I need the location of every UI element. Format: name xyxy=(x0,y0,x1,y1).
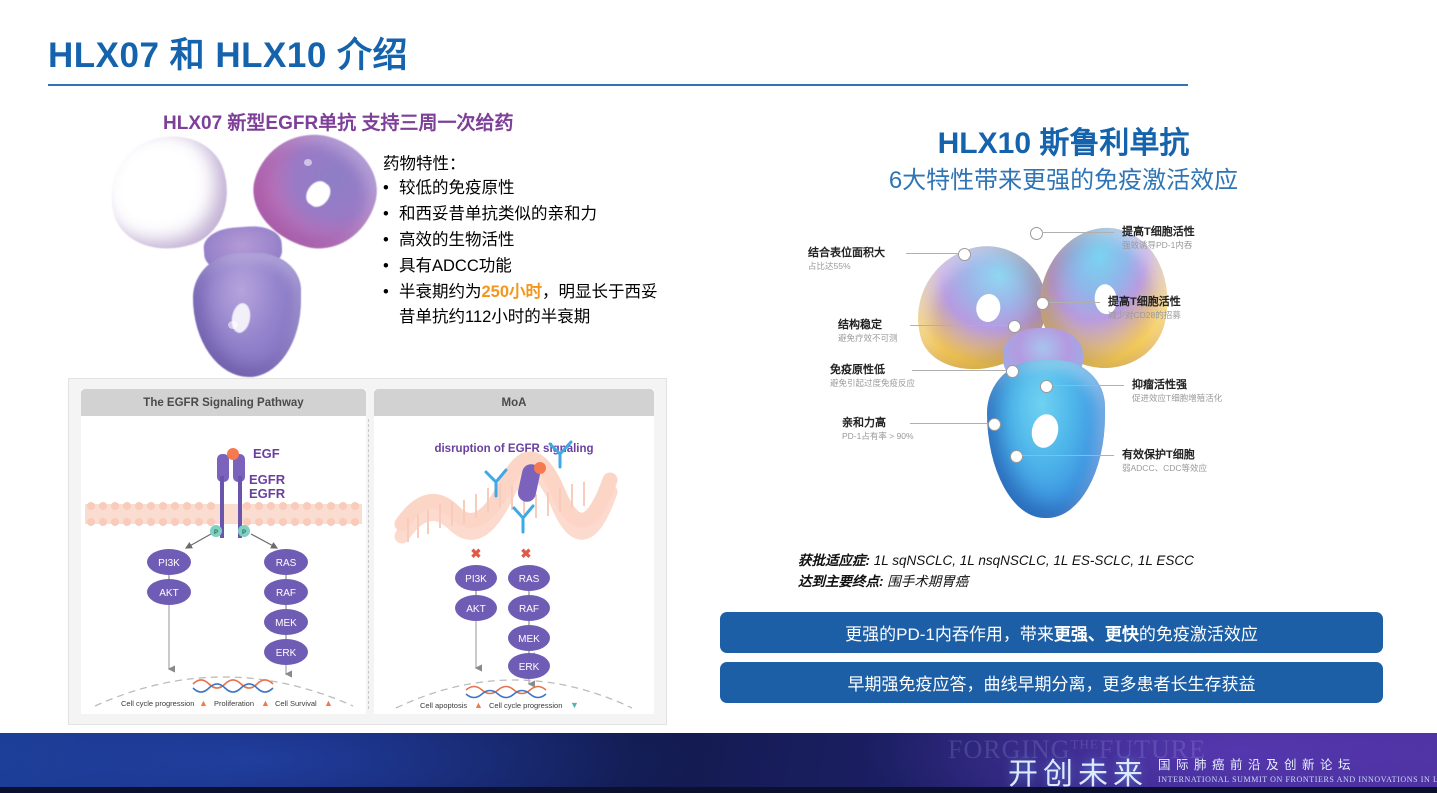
svg-text:Proliferation: Proliferation xyxy=(214,699,254,708)
hlx10-section: HLX10 斯鲁利单抗 6大特性带来更强的免疫激活效应 结合表位面积大 占比达5… xyxy=(690,100,1437,730)
halflife-value: 250小时 xyxy=(482,283,543,301)
callout-protect-tcell: 有效保护T细胞 弱ADCC、CDC等效应 xyxy=(1122,448,1207,474)
hlx07-features: 药物特性： • 较低的免疫原性 • 和西妥昔单抗类似的亲和力 • 高效的生物活性… xyxy=(383,150,673,331)
callout-leader-line xyxy=(912,370,1006,371)
antibody-fc-stem xyxy=(193,253,301,377)
panel-header-label: The EGFR Signaling Pathway xyxy=(81,389,366,416)
callout-subtitle: 强效诱导PD-1内吞 xyxy=(1122,239,1195,251)
svg-text:✖: ✖ xyxy=(471,546,482,561)
svg-text:▲: ▲ xyxy=(324,698,333,708)
callout-subtitle: 促进效应T细胞增殖活化 xyxy=(1132,392,1222,404)
banner-early-response: 早期强免疫应答，曲线早期分离，更多患者长生存获益 xyxy=(720,662,1383,703)
callout-title: 有效保护T细胞 xyxy=(1122,448,1207,462)
callout-dot xyxy=(1030,227,1043,240)
svg-text:RAF: RAF xyxy=(276,588,296,599)
callout-title: 亲和力高 xyxy=(842,416,914,430)
svg-text:Cell Survival: Cell Survival xyxy=(275,699,317,708)
svg-text:▲: ▲ xyxy=(199,698,208,708)
features-heading: 药物特性： xyxy=(383,150,673,174)
feature-label: 具有ADCC功能 xyxy=(399,254,673,279)
svg-text:MEK: MEK xyxy=(518,634,540,645)
panel-header-label: MoA xyxy=(374,389,654,416)
callout-low-immunogenicity: 免疫原性低 避免引起过度免疫反应 xyxy=(830,363,915,389)
panel-body: P P EGF EGFR EGFR xyxy=(81,416,366,714)
svg-text:MEK: MEK xyxy=(275,618,297,629)
callout-leader-line xyxy=(1048,302,1100,303)
panel-divider xyxy=(368,419,370,709)
hlx07-section: HLX07 新型EGFR单抗 支持三周一次给药 药物特性： • 较低的免疫原性 … xyxy=(0,100,690,730)
callout-dot xyxy=(1006,365,1019,378)
bullet-icon: • xyxy=(383,228,399,253)
callout-tcell-activity-endocytosis: 提高T细胞活性 强效诱导PD-1内吞 xyxy=(1122,225,1195,251)
callout-leader-line xyxy=(910,325,1008,326)
footer-forum-name-en: INTERNATIONAL SUMMIT ON FRONTIERS AND IN… xyxy=(1158,775,1437,784)
feature-item: • 较低的免疫原性 xyxy=(383,176,673,201)
svg-text:P: P xyxy=(214,530,218,536)
panel-egfr-signaling: The EGFR Signaling Pathway xyxy=(81,389,366,714)
svg-text:ERK: ERK xyxy=(519,662,540,673)
callout-antitumor-activity: 抑瘤活性强 促进效应T细胞增殖活化 xyxy=(1132,378,1222,404)
feature-item: • 具有ADCC功能 xyxy=(383,254,673,279)
hlx07-subtitle: HLX07 新型EGFR单抗 支持三周一次给药 xyxy=(163,108,513,135)
callout-tcell-activity-cd28: 提高T细胞活性 减少对CD28的招募 xyxy=(1108,295,1181,321)
svg-text:✖: ✖ xyxy=(521,546,532,561)
footer-bar: FORGINGTHEFUTURE 开创未来 国际肺癌前沿及创新论坛 INTERN… xyxy=(0,733,1437,793)
svg-text:RAS: RAS xyxy=(519,574,540,585)
indications-note: 获批适应症: 1L sqNSCLC, 1L nsqNSCLC, 1L ES-SC… xyxy=(798,550,1338,592)
svg-text:PI3K: PI3K xyxy=(158,558,180,569)
hlx10-title: HLX10 斯鲁利单抗 xyxy=(690,118,1437,162)
svg-text:▲: ▲ xyxy=(261,698,270,708)
moa-diagram: disruption of EGFR signaling xyxy=(374,416,654,714)
svg-text:P: P xyxy=(242,530,246,536)
panel-body: disruption of EGFR signaling xyxy=(374,416,654,714)
indications-line-2: 达到主要终点: 围手术期胃癌 xyxy=(798,571,1338,592)
footer-brand-cn: 开创未来 xyxy=(1008,749,1148,793)
svg-text:▲: ▲ xyxy=(474,700,483,710)
hlx10-subtitle: 6大特性带来更强的免疫激活效应 xyxy=(690,160,1437,195)
callout-leader-line xyxy=(906,253,958,254)
svg-text:RAF: RAF xyxy=(519,604,539,615)
banner-text-bold: 更强、更快 xyxy=(1054,620,1139,645)
svg-text:Cell cycle progression: Cell cycle progression xyxy=(121,699,194,708)
panel-moa: MoA disruption of EGFR signaling xyxy=(374,389,654,714)
page-title: HLX07 和 HLX10 介绍 xyxy=(48,27,408,78)
callout-subtitle: 占比达55% xyxy=(808,260,885,272)
callout-subtitle: 减少对CD28的招募 xyxy=(1108,309,1181,321)
svg-text:AKT: AKT xyxy=(466,604,485,615)
callout-leader-line xyxy=(1052,385,1124,386)
callout-title: 提高T细胞活性 xyxy=(1122,225,1195,239)
callout-dot xyxy=(1010,450,1023,463)
egfr-pathway-card: The EGFR Signaling Pathway xyxy=(68,378,667,725)
svg-text:AKT: AKT xyxy=(159,588,178,599)
receptor-label-1: EGFR xyxy=(249,472,286,487)
feature-item: • 高效的生物活性 xyxy=(383,228,673,253)
endpoint-label: 达到主要终点: xyxy=(798,574,884,589)
ligand-label: EGF xyxy=(253,446,280,461)
feature-label: 高效的生物活性 xyxy=(399,228,673,253)
hlx07-antibody-illustration xyxy=(108,135,378,380)
halflife-pre: 半衰期约为 xyxy=(399,283,482,301)
banner-text-post: 的免疫激活效应 xyxy=(1139,620,1258,645)
banner-text-pre: 早期强免疫应答，曲线早期分离，更多患者长生存获益 xyxy=(848,670,1256,695)
bullet-icon: • xyxy=(383,280,399,330)
banner-pd1-endocytosis: 更强的PD-1内吞作用，带来更强、更快的免疫激活效应 xyxy=(720,612,1383,653)
feature-label: 和西妥昔单抗类似的亲和力 xyxy=(399,202,673,227)
feature-item: • 和西妥昔单抗类似的亲和力 xyxy=(383,202,673,227)
egfr-pathway-diagram: P P EGF EGFR EGFR xyxy=(81,416,366,714)
callout-epitope-area: 结合表位面积大 占比达55% xyxy=(808,246,885,272)
callout-leader-line xyxy=(910,423,988,424)
svg-text:Cell apoptosis: Cell apoptosis xyxy=(420,701,467,710)
svg-text:PI3K: PI3K xyxy=(465,574,487,585)
callout-title: 免疫原性低 xyxy=(830,363,915,377)
title-divider xyxy=(48,84,1188,86)
indications-line-1: 获批适应症: 1L sqNSCLC, 1L nsqNSCLC, 1L ES-SC… xyxy=(798,550,1338,571)
callout-high-affinity: 亲和力高 PD-1占有率 > 90% xyxy=(842,416,914,442)
endpoint-value: 围手术期胃癌 xyxy=(884,574,969,589)
callout-dot xyxy=(1008,320,1021,333)
callout-subtitle: 避免引起过度免疫反应 xyxy=(830,377,915,389)
callout-subtitle: PD-1占有率 > 90% xyxy=(842,430,914,442)
surface-speck xyxy=(304,159,312,166)
callout-dot xyxy=(988,418,1001,431)
callout-title: 提高T细胞活性 xyxy=(1108,295,1181,309)
indications-value: 1L sqNSCLC, 1L nsqNSCLC, 1L ES-SCLC, 1L … xyxy=(870,553,1194,568)
receptor-label-2: EGFR xyxy=(249,486,286,501)
bullet-icon: • xyxy=(383,202,399,227)
feature-label: 半衰期约为250小时，明显长于西妥昔单抗约112小时的半衰期 xyxy=(399,280,673,330)
callout-title: 结合表位面积大 xyxy=(808,246,885,260)
callout-leader-line xyxy=(1022,455,1114,456)
callout-subtitle: 避免疗效不可测 xyxy=(838,332,898,344)
callout-title: 抑瘤活性强 xyxy=(1132,378,1222,392)
indications-label: 获批适应症: xyxy=(798,553,870,568)
callout-title: 结构稳定 xyxy=(838,318,898,332)
callout-dot xyxy=(1036,297,1049,310)
svg-text:RAS: RAS xyxy=(276,558,297,569)
callout-structure-stable: 结构稳定 避免疗效不可测 xyxy=(838,318,898,344)
callout-dot xyxy=(958,248,971,261)
callout-dot xyxy=(1040,380,1053,393)
svg-text:Cell cycle progression: Cell cycle progression xyxy=(489,701,562,710)
surface-speck xyxy=(148,163,157,170)
slide-root: HLX07 和 HLX10 介绍 HLX07 新型EGFR单抗 支持三周一次给药… xyxy=(0,0,1437,793)
callout-leader-line xyxy=(1042,232,1114,233)
footer-forum-name-cn: 国际肺癌前沿及创新论坛 xyxy=(1158,754,1356,773)
banner-text-pre: 更强的PD-1内吞作用，带来 xyxy=(845,620,1054,645)
bullet-icon: • xyxy=(383,176,399,201)
surface-speck xyxy=(228,321,238,329)
bullet-icon: • xyxy=(383,254,399,279)
feature-item-halflife: • 半衰期约为250小时，明显长于西妥昔单抗约112小时的半衰期 xyxy=(383,280,673,330)
svg-text:▼: ▼ xyxy=(570,700,579,710)
callout-subtitle: 弱ADCC、CDC等效应 xyxy=(1122,462,1207,474)
svg-text:ERK: ERK xyxy=(276,648,297,659)
feature-label: 较低的免疫原性 xyxy=(399,176,673,201)
